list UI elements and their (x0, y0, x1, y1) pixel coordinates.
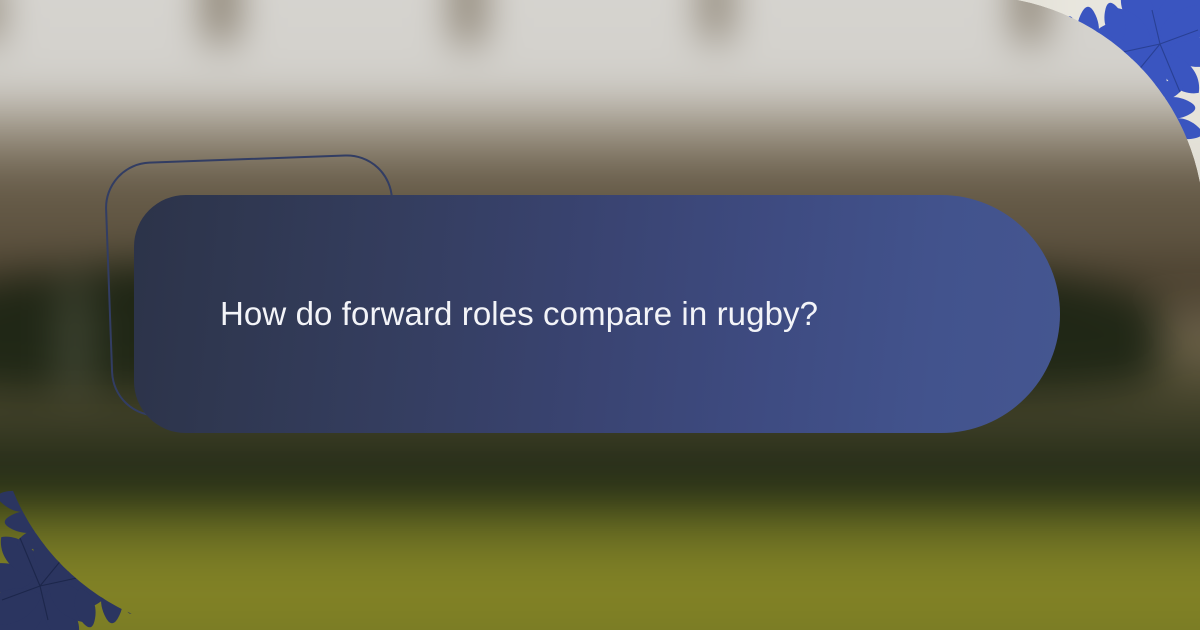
background-grass-field (0, 489, 1200, 630)
tree-trunk (60, 272, 90, 392)
title-card: How do forward roles compare in rugby? (134, 195, 1060, 433)
share-card-canvas: How do forward roles compare in rugby? (0, 0, 1200, 630)
building-spire (208, 0, 234, 42)
page-title: How do forward roles compare in rugby? (134, 293, 878, 334)
building-spire (456, 0, 480, 44)
building-spire (705, 0, 727, 40)
building-spire (1018, 0, 1042, 42)
